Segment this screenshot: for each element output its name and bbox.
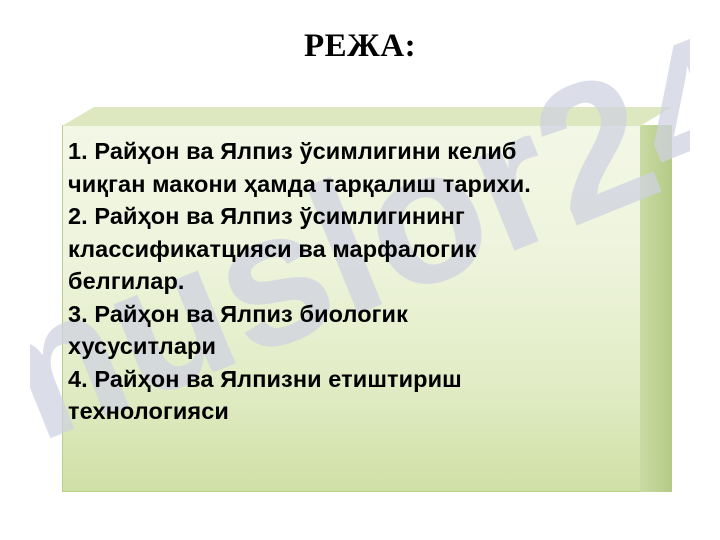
slide-canvas: РЕЖА: muslor24 1. Райҳон ва Ялпиз ўсимли…	[0, 0, 720, 540]
body-line: белгилар.	[68, 265, 628, 298]
body-line: 4. Райҳон ва Ялпизни етиштириш	[68, 363, 628, 396]
body-line: технологияси	[68, 395, 628, 428]
body-line: 3. Райҳон ва Ялпиз биологик	[68, 298, 628, 331]
slide-body-text: 1. Райҳон ва Ялпиз ўсимлигини келиб чиқг…	[68, 135, 628, 428]
slide-title: РЕЖА:	[0, 28, 720, 65]
body-line: чиқган макони ҳамда тарқалиш тарихи.	[68, 168, 628, 201]
content-box-top-face	[62, 107, 672, 126]
content-box-right-face	[640, 125, 672, 492]
body-line: 1. Райҳон ва Ялпиз ўсимлигини келиб	[68, 135, 628, 168]
body-line: хусуситлари	[68, 330, 628, 363]
body-line: классификатцияси ва марфалогик	[68, 233, 628, 266]
body-line: 2. Райҳон ва Ялпиз ўсимлигининг	[68, 200, 628, 233]
